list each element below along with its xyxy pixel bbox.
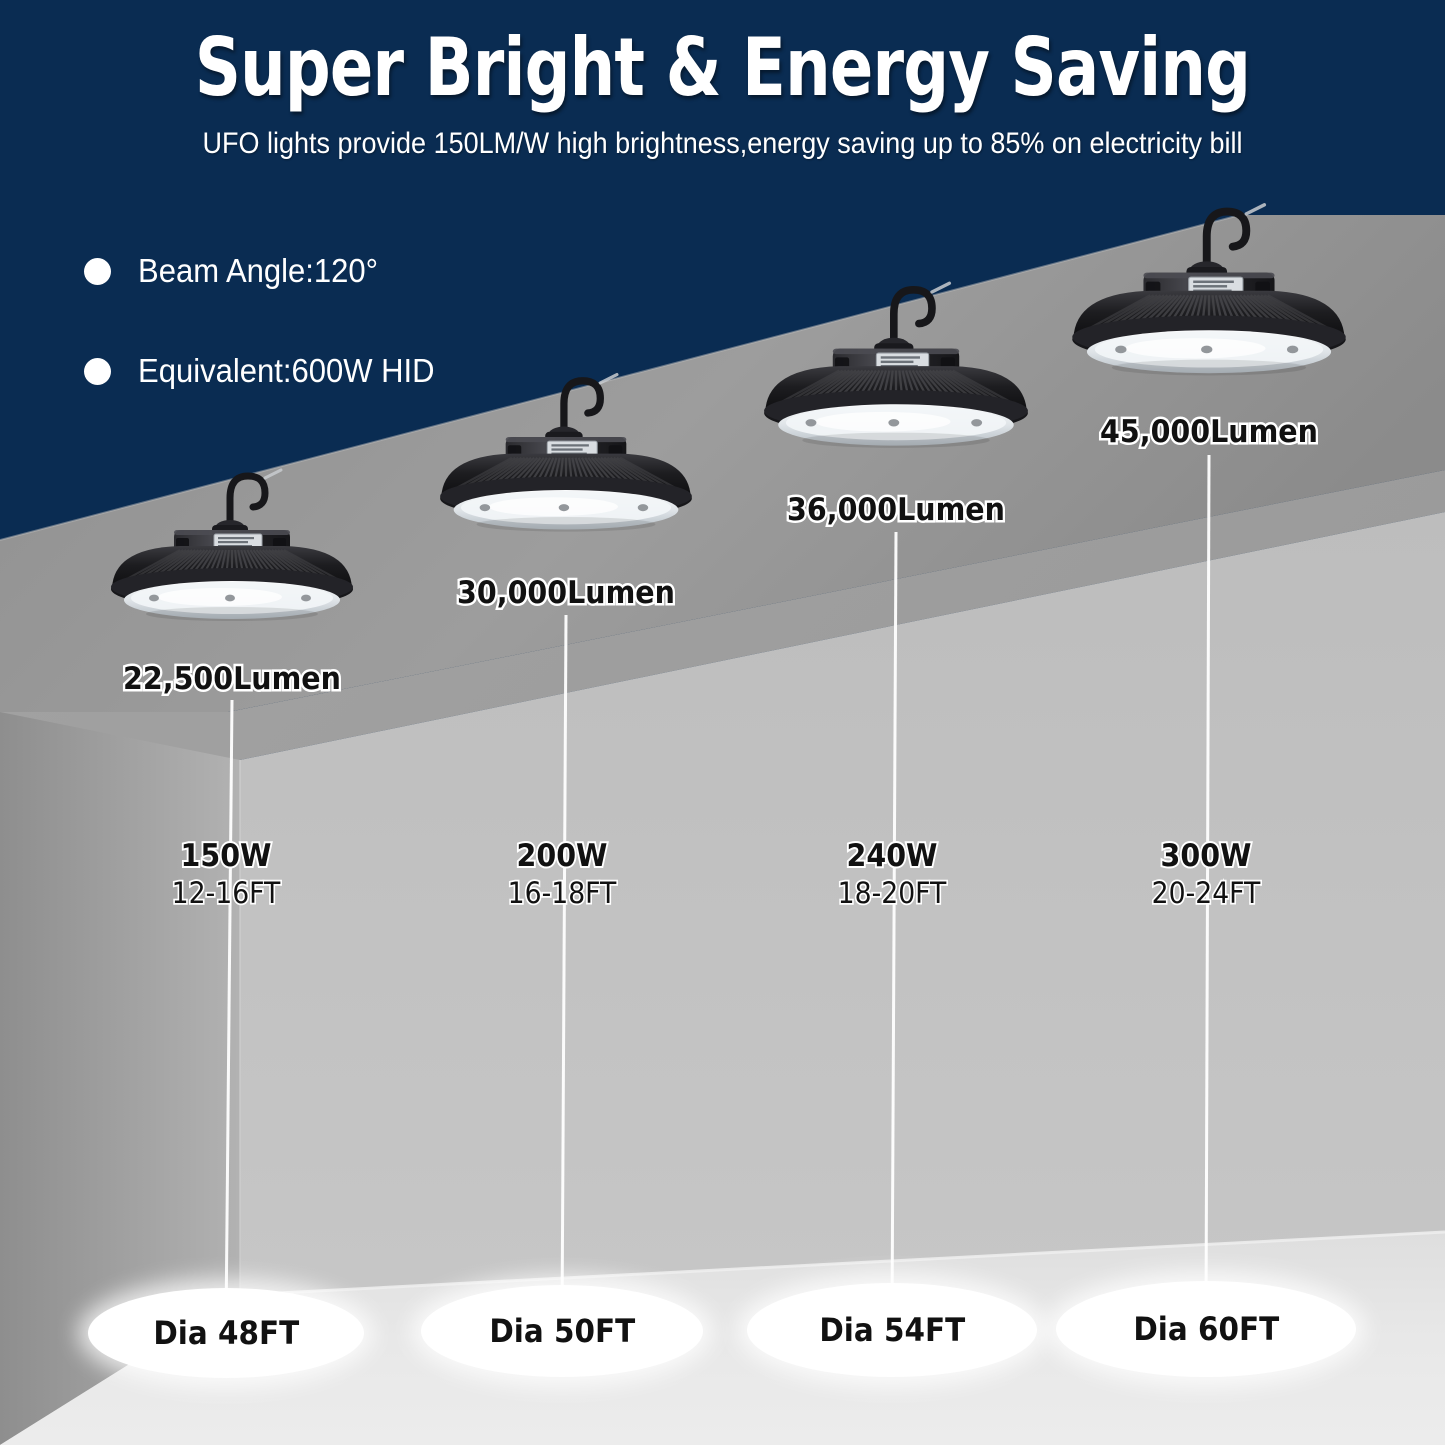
fixture-200w-wattage-label: 200W (508, 838, 617, 874)
fixture-200w-coverage-ellipse: Dia 50FT (421, 1285, 703, 1377)
fixture-240w-lumen-label: 36,000Lumen (787, 492, 1005, 528)
fixture-200w-spec-group: 200W16-18FT (503, 838, 621, 910)
fixture-150w-mount-height-label: 12-16FT (172, 876, 281, 910)
lamp-hook-icon (894, 290, 932, 345)
fixture-150w-lumen-label: 22,500Lumen (123, 661, 341, 697)
fixture-200w-mount-height-label: 16-18FT (508, 876, 617, 910)
fixture-150w-spec-group: 150W12-16FT (167, 838, 285, 910)
feature-bullet-label: Equivalent:600W HID (138, 352, 435, 390)
feature-bullet-beam-angle: Beam Angle:120° (84, 252, 453, 290)
fixture-300w-lamp (1040, 195, 1379, 410)
fixture-240w-wattage-label: 240W (838, 838, 947, 874)
fixture-300w-spec-group: 300W20-24FT (1147, 838, 1265, 910)
fixture-200w-coverage-label: Dia 50FT (489, 1312, 635, 1350)
fixture-200w-lamp (410, 365, 722, 563)
fixture-300w-coverage-ellipse: Dia 60FT (1056, 1281, 1356, 1377)
lamp-hook-icon (564, 381, 600, 433)
fixture-240w-coverage-ellipse: Dia 54FT (747, 1283, 1037, 1377)
fixture-150w-lamp (82, 461, 382, 651)
fixture-200w-lumen-label: 30,000Lumen (457, 575, 675, 611)
fixture-150w-coverage-label: Dia 48FT (153, 1314, 299, 1352)
fixture-240w-lamp (733, 273, 1060, 480)
fixture-240w-coverage-label: Dia 54FT (819, 1311, 965, 1349)
fixture-300w-lumen-label: 45,000Lumen (1100, 414, 1318, 450)
lamp-hook-icon (230, 476, 265, 526)
fixture-150w-wattage-label: 150W (172, 838, 281, 874)
lamp-hook-icon (1207, 212, 1247, 268)
fixture-240w-mount-height-label: 18-20FT (838, 876, 947, 910)
fixture-150w-coverage-ellipse: Dia 48FT (88, 1288, 364, 1378)
feature-bullet-list: Beam Angle:120° Equivalent:600W HID (84, 252, 453, 452)
infographic-canvas: Super Bright & Energy Saving UFO lights … (0, 0, 1445, 1445)
fixture-300w-wattage-label: 300W (1152, 838, 1261, 874)
feature-bullet-equivalent: Equivalent:600W HID (84, 352, 453, 390)
bullet-dot-icon (84, 358, 111, 385)
bullet-dot-icon (84, 258, 111, 285)
fixture-300w-mount-height-label: 20-24FT (1152, 876, 1261, 910)
fixture-240w-spec-group: 240W18-20FT (833, 838, 951, 910)
fixture-300w-coverage-label: Dia 60FT (1133, 1310, 1279, 1348)
feature-bullet-label: Beam Angle:120° (138, 252, 378, 290)
